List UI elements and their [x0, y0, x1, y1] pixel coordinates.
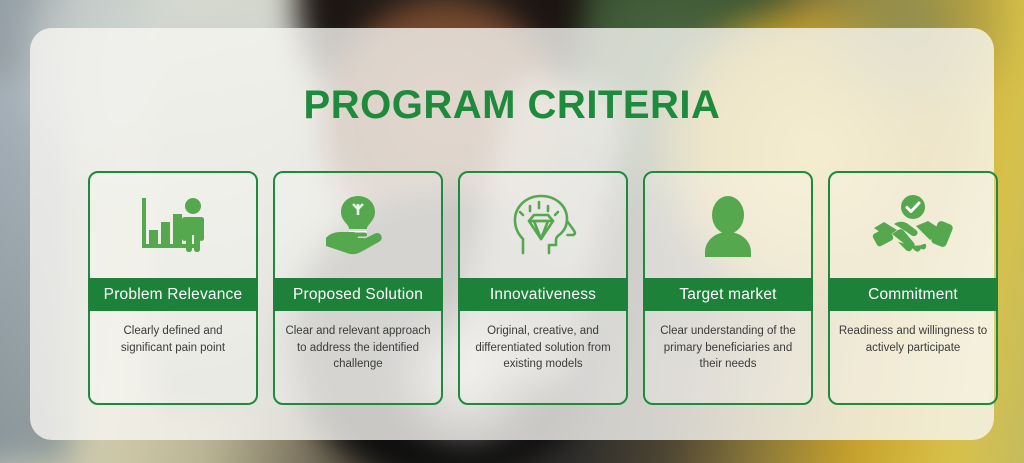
content-panel: PROGRAM CRITERIA: [30, 28, 994, 440]
criteria-card-title: Commitment: [868, 286, 958, 304]
handshake-check-icon: [830, 173, 996, 278]
user-silhouette-icon: [645, 173, 811, 278]
criteria-card-description: Clear and relevant approach to address t…: [283, 323, 433, 373]
bar-chart-person-icon: [90, 173, 256, 278]
head-diamond-idea-icon: [460, 173, 626, 278]
criteria-card-banner: Innovativeness: [458, 278, 628, 311]
criteria-card-banner: Proposed Solution: [273, 278, 443, 311]
criteria-card-proposed-solution[interactable]: Proposed Solution Clear and relevant app…: [273, 171, 443, 405]
criteria-card-title: Problem Relevance: [104, 286, 243, 304]
criteria-card-description: Readiness and willingness to actively pa…: [838, 323, 988, 356]
criteria-card-title: Innovativeness: [490, 286, 596, 304]
criteria-card-title: Proposed Solution: [293, 286, 423, 304]
page-title: PROGRAM CRITERIA: [30, 83, 994, 128]
criteria-card-banner: Problem Relevance: [88, 278, 258, 311]
criteria-card-innovativeness[interactable]: Innovativeness Original, creative, and d…: [458, 171, 628, 405]
slide-stage: PROGRAM CRITERIA: [0, 0, 1024, 463]
criteria-card-description: Clearly defined and significant pain poi…: [98, 323, 248, 356]
criteria-card-target-market[interactable]: Target market Clear understanding of the…: [643, 171, 813, 405]
criteria-card-problem-relevance[interactable]: Problem Relevance Clearly defined and si…: [88, 171, 258, 405]
criteria-card-title: Target market: [679, 286, 776, 304]
hand-lightbulb-icon: [275, 173, 441, 278]
criteria-card-banner: Target market: [643, 278, 813, 311]
criteria-card-list: Problem Relevance Clearly defined and si…: [88, 171, 998, 405]
criteria-card-banner: Commitment: [828, 278, 998, 311]
criteria-card-description: Clear understanding of the primary benef…: [653, 323, 803, 373]
criteria-card-description: Original, creative, and differentiated s…: [468, 323, 618, 373]
criteria-card-commitment[interactable]: Commitment Readiness and willingness to …: [828, 171, 998, 405]
